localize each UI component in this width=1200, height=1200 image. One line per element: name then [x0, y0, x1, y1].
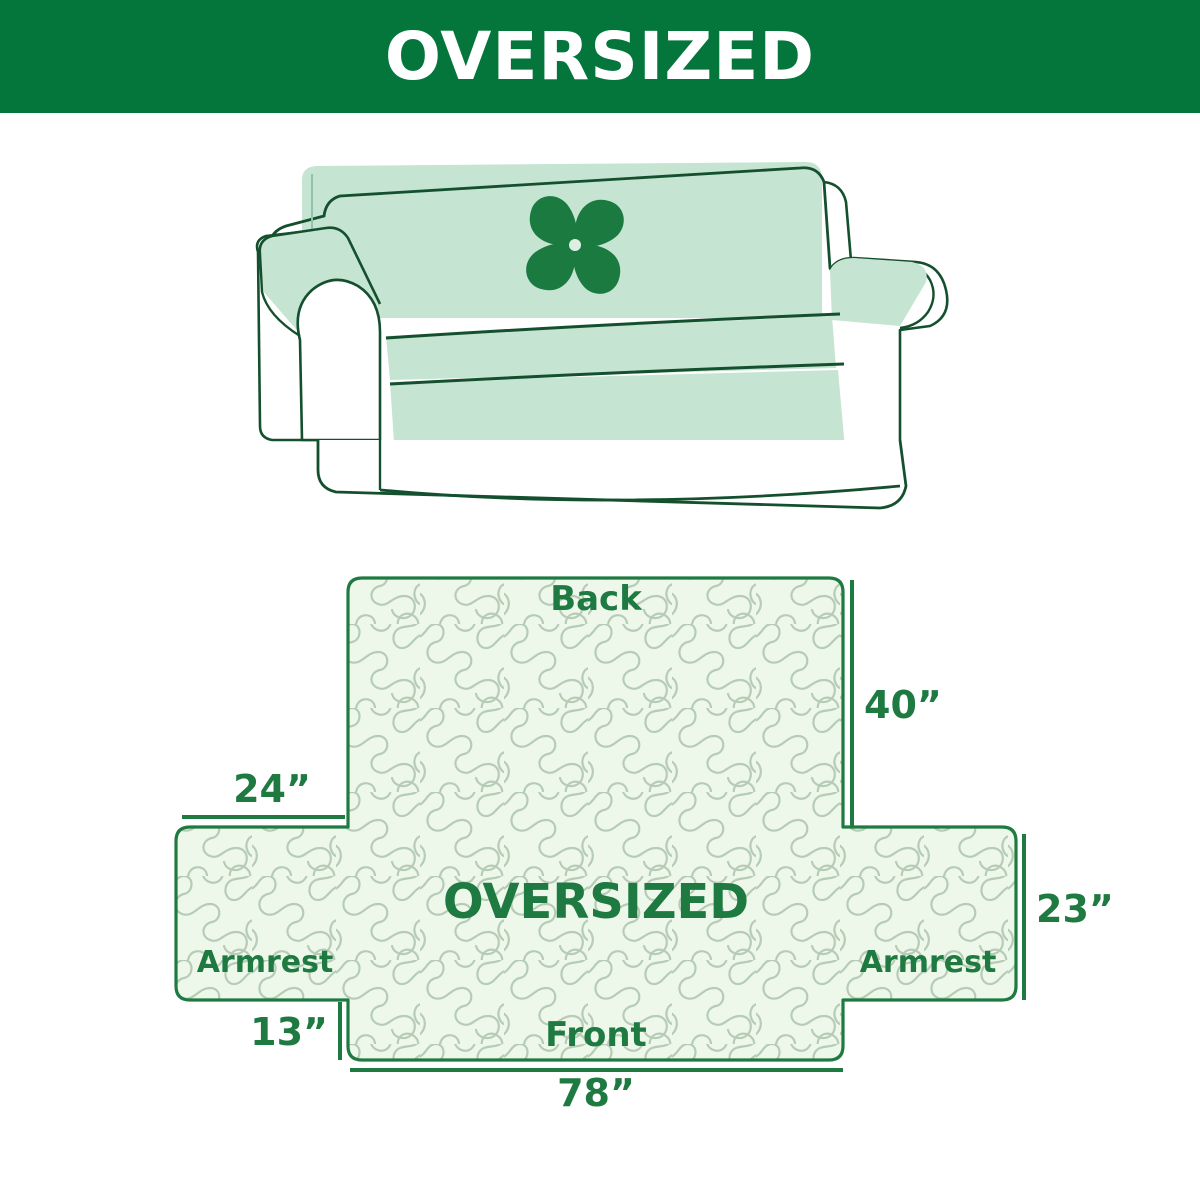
- sofa-base-skirt: [318, 440, 906, 508]
- dim-label-front-drop: 13”: [250, 1010, 328, 1054]
- flat-cover-diagram: Back Front Armrest Armrest OVERSIZED 40”…: [0, 540, 1200, 1110]
- panel-label-front: Front: [545, 1015, 647, 1055]
- header-banner: OVERSIZED: [0, 0, 1200, 113]
- panel-label-back: Back: [550, 579, 643, 619]
- sofa-left-arm-roll: [298, 280, 380, 440]
- dim-label-front-width: 78”: [557, 1071, 635, 1110]
- center-label-oversized: OVERSIZED: [443, 874, 749, 930]
- panel-label-armrest-left: Armrest: [197, 945, 334, 980]
- panel-label-armrest-right: Armrest: [860, 945, 997, 980]
- dim-label-armrest-height: 23”: [1036, 887, 1114, 931]
- flat-cover-svg: Back Front Armrest Armrest OVERSIZED 40”…: [0, 540, 1200, 1110]
- sofa-svg: [240, 140, 980, 520]
- banner-title: OVERSIZED: [385, 24, 815, 90]
- sofa-illustration: [240, 140, 980, 520]
- product-size-chart: OVERSIZED: [0, 0, 1200, 1200]
- dim-label-back-height: 40”: [864, 683, 942, 727]
- dim-label-armrest-width: 24”: [233, 767, 311, 811]
